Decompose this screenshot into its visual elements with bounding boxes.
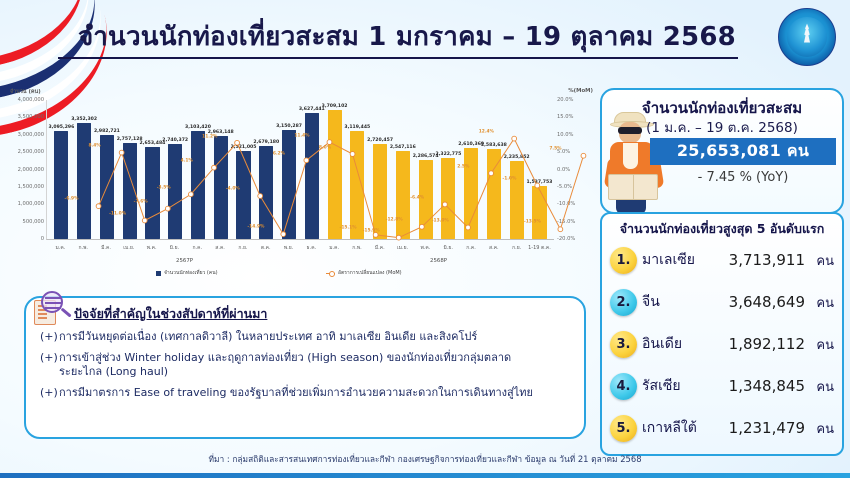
factor-marker: (+) bbox=[40, 386, 59, 401]
x-tick-label: มิ.ย. bbox=[437, 244, 460, 252]
traveler-shirt bbox=[623, 143, 638, 169]
mom-value-label: 6.2% bbox=[273, 151, 285, 156]
y-tick-label: 500,000 bbox=[8, 219, 44, 225]
y-tick-label: 3,500,000 bbox=[8, 114, 44, 120]
x-tick-label: ม.ค. bbox=[49, 244, 72, 252]
bar bbox=[123, 143, 137, 239]
bar-value-label: 2,547,116 bbox=[390, 145, 416, 150]
x-tick-label: ก.ค. bbox=[186, 244, 209, 252]
rank-badge: 5. bbox=[610, 415, 637, 442]
plot-area: 0500,0001,000,0001,500,0002,000,0002,500… bbox=[46, 100, 554, 240]
bar-value-label: 1,537,753 bbox=[527, 180, 553, 185]
y2-tick-label: 15.0% bbox=[557, 114, 593, 120]
rank-value: 1,231,479 bbox=[715, 419, 805, 437]
bar-slot: 2,583,638 bbox=[483, 100, 506, 239]
arrivals-chart: จำนวน (คน) %(MoM) 0500,0001,000,0001,500… bbox=[6, 88, 596, 280]
y2-tick-label: 10.0% bbox=[557, 132, 593, 138]
bar bbox=[100, 135, 114, 239]
total-value-band: 25,653,081 คน bbox=[650, 138, 836, 165]
source-note: ที่มา : กลุ่มสถิติและสารสนเทศการท่องเที่… bbox=[0, 452, 850, 466]
x-tick-label: ส.ค. bbox=[209, 244, 232, 252]
mom-value-label: -15.9% bbox=[363, 228, 380, 233]
magnifier-document-icon bbox=[32, 290, 72, 328]
mom-value-label: -15.1% bbox=[340, 225, 357, 230]
x-tick-label: 1-19 ต.ค. bbox=[528, 244, 551, 252]
mom-value-label: 7.5% bbox=[549, 147, 561, 152]
mom-value-label: 12.4% bbox=[479, 130, 494, 135]
bar-slot: 3,150,287 bbox=[278, 100, 301, 239]
page-title: จำนวนนักท่องเที่ยวสะสม 1 มกราคม – 19 ตุล… bbox=[78, 16, 728, 57]
x-tick-label: ก.ย. bbox=[505, 244, 528, 252]
y2-axis-title: %(MoM) bbox=[568, 88, 593, 94]
footer-accent-bar bbox=[0, 473, 850, 478]
bar-value-label: 3,095,296 bbox=[48, 125, 74, 130]
bar-slot: 2,963,148 bbox=[209, 100, 232, 239]
mom-value-label: 11.2% bbox=[202, 134, 217, 139]
bar-slot: 2,235,852 bbox=[505, 100, 528, 239]
bar-value-label: 2,679,180 bbox=[253, 140, 279, 145]
total-yoy-change: - 7.45 % (YoY) bbox=[650, 170, 836, 185]
bar bbox=[373, 144, 387, 239]
factor-text: การมีมาตรการ Ease of traveling ของรัฐบาล… bbox=[59, 386, 572, 401]
y-tick-label: 1,000,000 bbox=[8, 201, 44, 207]
bar-value-label: 2,982,721 bbox=[94, 129, 120, 134]
bar-value-label: 2,322,775 bbox=[435, 152, 461, 157]
rank-row: 2.จีน3,648,649คน bbox=[610, 281, 834, 323]
ministry-emblem-icon bbox=[778, 8, 836, 66]
mom-point bbox=[558, 227, 563, 232]
bar-value-label: 2,583,638 bbox=[481, 143, 507, 148]
rank-row: 1.มาเลเซีย3,713,911คน bbox=[610, 239, 834, 281]
x-tick-label: ส.ค. bbox=[482, 244, 505, 252]
y-axis-title: จำนวน (คน) bbox=[10, 88, 41, 96]
top5-title: จำนวนนักท่องเที่ยวสูงสุด 5 อันดับแรก bbox=[610, 219, 834, 239]
key-factor-item: (+)การเข้าสู่ช่วง Winter holiday และฤดูก… bbox=[40, 351, 572, 366]
x-tick-label: เม.ย. bbox=[117, 244, 140, 252]
rank-unit: คน bbox=[810, 418, 834, 439]
mom-value-label: -6.4% bbox=[410, 195, 424, 200]
bar bbox=[510, 161, 524, 239]
bar-value-label: 3,119,445 bbox=[344, 125, 370, 130]
total-value: 25,653,081 คน bbox=[677, 139, 809, 164]
bar-slot: 2,982,721 bbox=[96, 100, 119, 239]
bar-slot: 3,095,296 bbox=[50, 100, 73, 239]
x-tick-label: ก.พ. bbox=[346, 244, 369, 252]
factor-text: การมีวันหยุดต่อเนื่อง (เทศกาลดิวาลี) ในห… bbox=[59, 330, 572, 345]
y-tick-label: 3,000,000 bbox=[8, 132, 44, 138]
magnifier-lens-icon bbox=[41, 291, 63, 313]
header-divider bbox=[58, 57, 738, 59]
y2-tick-label: -10.0% bbox=[557, 201, 593, 207]
bar-slot: 3,352,302 bbox=[73, 100, 96, 239]
bar-slot: 3,709,102 bbox=[323, 100, 346, 239]
legend-swatch bbox=[326, 273, 335, 274]
x-tick-label: มี.ค. bbox=[368, 244, 391, 252]
bar-value-label: 2,235,852 bbox=[504, 155, 530, 160]
bar bbox=[145, 147, 159, 239]
magnifier-handle-icon bbox=[60, 308, 71, 318]
x-tick-label: ธ.ค. bbox=[300, 244, 323, 252]
x-tick-label: ก.ค. bbox=[460, 244, 483, 252]
bar bbox=[487, 149, 501, 239]
x-tick-label: ม.ค. bbox=[323, 244, 346, 252]
bar bbox=[464, 148, 478, 239]
bar bbox=[282, 130, 296, 239]
bar-slot: 2,521,005 bbox=[232, 100, 255, 239]
rank-row: 3.อินเดีย1,892,112คน bbox=[610, 323, 834, 365]
bar-value-label: 3,150,287 bbox=[276, 124, 302, 129]
bar bbox=[305, 113, 319, 239]
bar bbox=[350, 131, 364, 239]
mom-value-label: -1.0% bbox=[502, 176, 516, 181]
bar-value-label: 2,521,005 bbox=[231, 145, 257, 150]
rank-unit: คน bbox=[810, 250, 834, 271]
x-tick-label: มี.ค. bbox=[95, 244, 118, 252]
y2-tick-label: -15.0% bbox=[557, 219, 593, 225]
bar-slot: 2,610,369 bbox=[460, 100, 483, 239]
bar-slot: 2,653,484 bbox=[141, 100, 164, 239]
x-tick-label: ต.ค. bbox=[254, 244, 277, 252]
total-card-period: (1 ม.ค. – 19 ต.ค. 2568) bbox=[602, 116, 842, 138]
y-tick-label: 4,000,000 bbox=[8, 97, 44, 103]
bar-slot: 2,679,180 bbox=[255, 100, 278, 239]
bar bbox=[396, 151, 410, 240]
bar-slot: 3,103,420 bbox=[187, 100, 210, 239]
top5-countries-card: จำนวนนักท่องเที่ยวสูงสุด 5 อันดับแรก 1.ม… bbox=[600, 212, 844, 456]
y2-tick-label: 5.0% bbox=[557, 149, 593, 155]
mom-value-label: -14.9% bbox=[247, 225, 264, 230]
bar-series: 3,095,2963,352,3022,982,7212,757,1282,65… bbox=[47, 100, 554, 239]
x-tick-label: มิ.ย. bbox=[163, 244, 186, 252]
mom-value-label: -13.5% bbox=[524, 220, 541, 225]
total-arrivals-card: จำนวนนักท่องเที่ยวสะสม (1 ม.ค. – 19 ต.ค.… bbox=[600, 88, 844, 214]
bar-slot: 2,740,372 bbox=[164, 100, 187, 239]
rank-country-name: รัสเซีย bbox=[642, 375, 710, 397]
bar-value-label: 3,709,102 bbox=[322, 104, 348, 109]
rank-unit: คน bbox=[810, 376, 834, 397]
mom-value-label: -3.5% bbox=[157, 185, 171, 190]
factor-text-continuation: ระยะไกล (Long haul) bbox=[59, 365, 572, 380]
bar bbox=[77, 123, 91, 239]
mom-value-label: -7.6% bbox=[134, 199, 148, 204]
key-factors-box: ปัจจัยที่สำคัญในช่วงสัปดาห์ที่ผ่านมา (+)… bbox=[24, 296, 586, 439]
legend-label: จำนวนนักท่องเที่ยว (คน) bbox=[164, 269, 218, 277]
y-tick-label: 1,500,000 bbox=[8, 184, 44, 190]
key-factors-list: (+)การมีวันหยุดต่อเนื่อง (เทศกาลดิวาลี) … bbox=[40, 330, 572, 400]
y2-tick-label: 0.0% bbox=[557, 167, 593, 173]
rank-unit: คน bbox=[810, 292, 834, 313]
infographic-page: จำนวนนักท่องเที่ยวสะสม 1 มกราคม – 19 ตุล… bbox=[0, 0, 850, 478]
legend-label: อัตราการเปลี่ยนแปลง (MoM) bbox=[338, 269, 402, 277]
y-tick-label: 2,000,000 bbox=[8, 167, 44, 173]
rank-badge: 1. bbox=[610, 247, 637, 274]
y2-tick-label: -20.0% bbox=[557, 236, 593, 242]
factor-text: การเข้าสู่ช่วง Winter holiday และฤดูกาลท… bbox=[59, 351, 572, 366]
mom-value-label: -4.0% bbox=[226, 187, 240, 192]
factor-marker: (+) bbox=[40, 351, 59, 366]
mom-value-label: 8.0% bbox=[319, 145, 331, 150]
rank-country-name: เกาหลีใต้ bbox=[642, 417, 710, 439]
rank-value: 3,648,649 bbox=[715, 293, 805, 311]
x-tick-label: เม.ย. bbox=[391, 244, 414, 252]
x-group-label: 2567P bbox=[155, 258, 215, 264]
factor-marker: (+) bbox=[40, 330, 59, 345]
legend-swatch bbox=[156, 271, 161, 276]
mom-value-label: 2.5% bbox=[457, 164, 469, 169]
rank-row: 5.เกาหลีใต้1,231,479คน bbox=[610, 407, 834, 449]
rank-badge: 2. bbox=[610, 289, 637, 316]
x-tick-label: พ.ค. bbox=[140, 244, 163, 252]
x-tick-label: พ.ย. bbox=[277, 244, 300, 252]
bar-value-label: 2,720,457 bbox=[367, 138, 393, 143]
rank-country-name: จีน bbox=[642, 291, 710, 313]
bar bbox=[328, 110, 342, 239]
mom-value-label: 4.1% bbox=[181, 159, 193, 164]
bar-slot: 1,537,753 bbox=[528, 100, 551, 239]
bar-value-label: 2,740,372 bbox=[162, 138, 188, 143]
legend-item: จำนวนนักท่องเที่ยว (คน) bbox=[156, 269, 218, 277]
x-group-label: 2568P bbox=[409, 258, 469, 264]
bar bbox=[532, 186, 546, 239]
x-axis-labels: ม.ค.ก.พ.มี.ค.เม.ย.พ.ค.มิ.ย.ก.ค.ส.ค.ก.ย.ต… bbox=[46, 244, 554, 252]
bar bbox=[54, 131, 68, 239]
bar-slot: 2,757,128 bbox=[118, 100, 141, 239]
bar-value-label: 3,352,302 bbox=[71, 117, 97, 122]
rank-badge: 4. bbox=[610, 373, 637, 400]
rank-value: 1,892,112 bbox=[715, 335, 805, 353]
mom-value-label: -12.8% bbox=[386, 217, 403, 222]
mom-value-label: 11.4% bbox=[294, 133, 309, 138]
legend-item: อัตราการเปลี่ยนแปลง (MoM) bbox=[326, 269, 402, 277]
y2-tick-label: -5.0% bbox=[557, 184, 593, 190]
rank-country-name: มาเลเซีย bbox=[642, 249, 710, 271]
bar bbox=[191, 131, 205, 239]
rank-badge: 3. bbox=[610, 331, 637, 358]
mom-value-label: 8.4% bbox=[88, 144, 100, 149]
y-tick-label: 0 bbox=[8, 236, 44, 242]
mom-value-label: -13.0% bbox=[432, 218, 449, 223]
mom-value-label: -11.0% bbox=[109, 211, 126, 216]
y2-tick-label: 20.0% bbox=[557, 97, 593, 103]
rank-unit: คน bbox=[810, 334, 834, 355]
top5-list: 1.มาเลเซีย3,713,911คน2.จีน3,648,649คน3.อ… bbox=[610, 239, 834, 449]
rank-country-name: อินเดีย bbox=[642, 333, 710, 355]
bar-slot: 3,119,445 bbox=[346, 100, 369, 239]
key-factor-item: (+)การมีวันหยุดต่อเนื่อง (เทศกาลดิวาลี) … bbox=[40, 330, 572, 345]
x-tick-label: พ.ค. bbox=[414, 244, 437, 252]
x-tick-label: ก.ย. bbox=[232, 244, 255, 252]
rank-value: 1,348,845 bbox=[715, 377, 805, 395]
rank-row: 4.รัสเซีย1,348,845คน bbox=[610, 365, 834, 407]
key-factors-title: ปัจจัยที่สำคัญในช่วงสัปดาห์ที่ผ่านมา bbox=[74, 304, 572, 324]
bar-slot: 3,627,441 bbox=[300, 100, 323, 239]
y-tick-label: 2,500,000 bbox=[8, 149, 44, 155]
bar bbox=[441, 158, 455, 239]
x-tick-label: ก.พ. bbox=[72, 244, 95, 252]
mom-value-label: -6.9% bbox=[65, 197, 79, 202]
key-factor-item: (+)การมีมาตรการ Ease of traveling ของรัฐ… bbox=[40, 386, 572, 401]
rank-value: 3,713,911 bbox=[715, 251, 805, 269]
